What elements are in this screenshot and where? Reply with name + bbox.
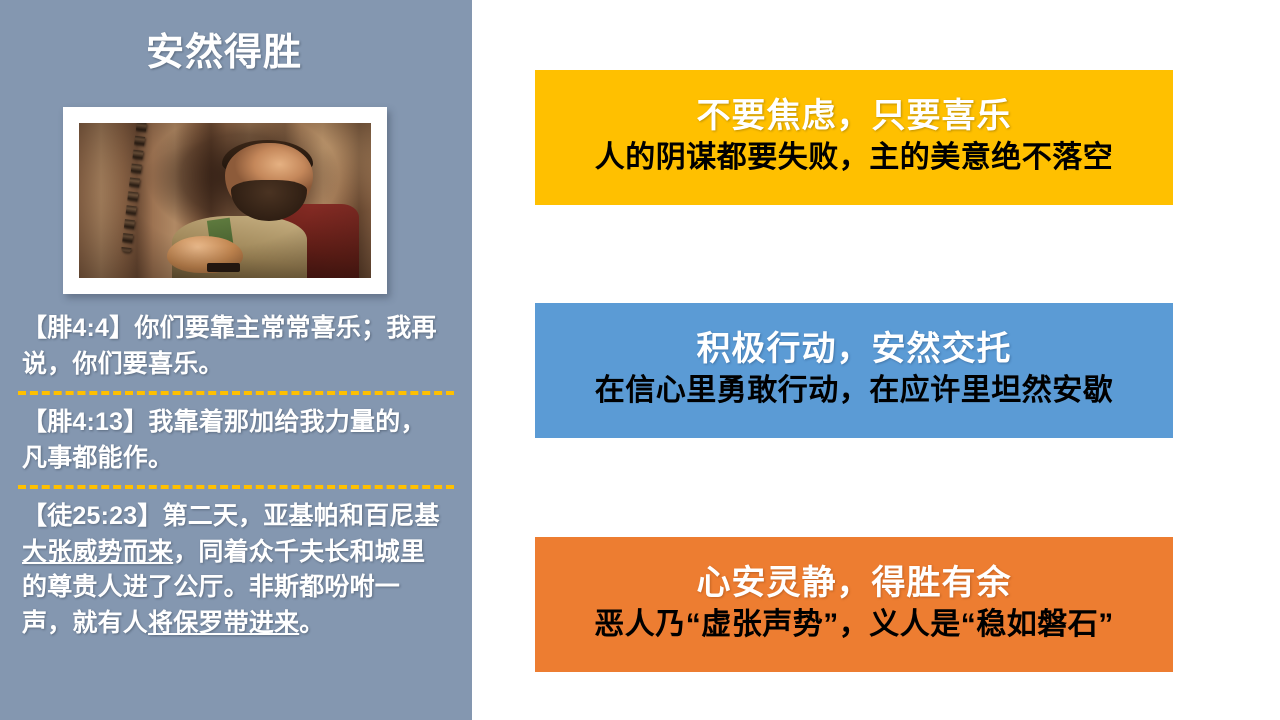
verse-text: 【腓4:13】我靠着那加给我力量的，凡事都能作。 (22, 408, 426, 472)
verse-item: 【腓4:13】我靠着那加给我力量的，凡事都能作。 (0, 405, 472, 476)
point-heading: 不要焦虑，只要喜乐 (697, 95, 1012, 138)
point-box-3: 心安灵静，得胜有余 恶人乃“虚张声势”，义人是“稳如磐石” (535, 537, 1173, 672)
verse-list: 【腓4:4】你们要靠主常常喜乐；我再说，你们要喜乐。 【腓4:13】我靠着那加给… (0, 311, 472, 641)
illustration-frame (63, 107, 387, 294)
verse-divider (18, 391, 454, 395)
verse-text: 【徒25:23】第二天，亚基帕和百尼基 (22, 502, 440, 530)
main-points-panel: 不要焦虑，只要喜乐 人的阴谋都要失败，主的美意绝不落空 积极行动，安然交托 在信… (472, 0, 1280, 720)
point-heading: 心安灵静，得胜有余 (697, 562, 1012, 605)
verse-item: 【腓4:4】你们要靠主常常喜乐；我再说，你们要喜乐。 (0, 311, 472, 382)
verse-divider (18, 485, 454, 489)
verse-emphasis: 将保罗带进来 (148, 609, 299, 637)
verse-text: 。 (299, 609, 324, 637)
point-heading: 积极行动，安然交托 (697, 328, 1012, 371)
verse-item: 【徒25:23】第二天，亚基帕和百尼基大张威势而来，同着众千夫长和城里的尊贵人进… (0, 499, 472, 641)
verse-text: 【腓4:4】你们要靠主常常喜乐；我再说，你们要喜乐。 (22, 314, 437, 378)
sidebar-panel: 安然得胜 【腓4:4】你们要靠主常常喜乐；我再说，你们要喜乐。 【腓4:13】我… (0, 0, 472, 720)
verse-emphasis: 大张威势而来 (22, 538, 173, 566)
paul-in-prison-image (79, 123, 371, 278)
image-vignette (79, 123, 371, 278)
point-subtext: 人的阴谋都要失败，主的美意绝不落空 (595, 139, 1114, 177)
point-box-2: 积极行动，安然交托 在信心里勇敢行动，在应许里坦然安歇 (535, 303, 1173, 438)
point-subtext: 在信心里勇敢行动，在应许里坦然安歇 (595, 372, 1114, 410)
point-subtext: 恶人乃“虚张声势”，义人是“稳如磐石” (594, 606, 1114, 644)
point-box-1: 不要焦虑，只要喜乐 人的阴谋都要失败，主的美意绝不落空 (535, 70, 1173, 205)
page-title: 安然得胜 (0, 32, 448, 76)
